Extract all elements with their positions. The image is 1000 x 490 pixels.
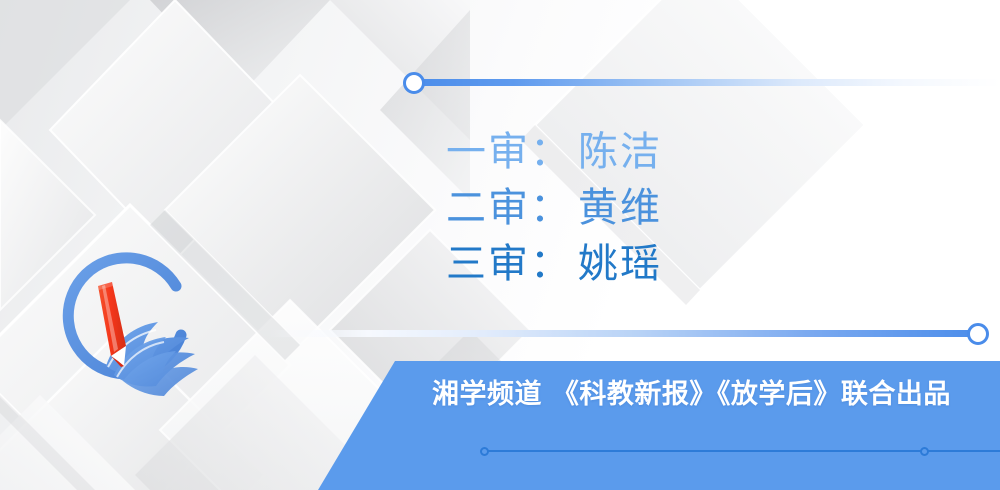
logo-pencil-icon <box>98 282 126 367</box>
decor-rule-top <box>406 79 1000 86</box>
credits-card: 一审： 陈洁 二审： 黄维 三审： 姚瑶 湘学频道 《科教新报》《放学后》联合出… <box>0 0 1000 490</box>
decor-rule-middle <box>268 330 984 337</box>
decor-ring-middle-right <box>967 323 989 345</box>
decor-rule-middle-bar <box>268 330 984 337</box>
decor-rule-top-bar <box>406 79 1000 86</box>
credit-name-3: 姚瑶 <box>578 236 662 292</box>
credit-line-third-review: 三审： 姚瑶 <box>446 236 662 292</box>
credit-role-label-1: 一审： <box>446 124 572 180</box>
credit-line-second-review: 二审： 黄维 <box>446 180 662 236</box>
banner-inner-dot-left <box>480 447 489 456</box>
credits-block: 一审： 陈洁 二审： 黄维 三审： 姚瑶 <box>446 124 662 292</box>
logo-mark-icon <box>48 238 214 404</box>
credit-role-label-2: 二审： <box>446 180 572 236</box>
credit-name-2: 黄维 <box>578 180 662 236</box>
producer-banner-text: 湘学频道 《科教新报》《放学后》联合出品 <box>432 372 988 411</box>
decor-ring-top-left <box>403 72 425 94</box>
credit-name-1: 陈洁 <box>578 124 662 180</box>
credit-role-label-3: 三审： <box>446 236 572 292</box>
xiangxue-channel-logo <box>48 238 214 404</box>
banner-inner-dot-right <box>920 447 929 456</box>
credit-line-first-review: 一审： 陈洁 <box>446 124 662 180</box>
